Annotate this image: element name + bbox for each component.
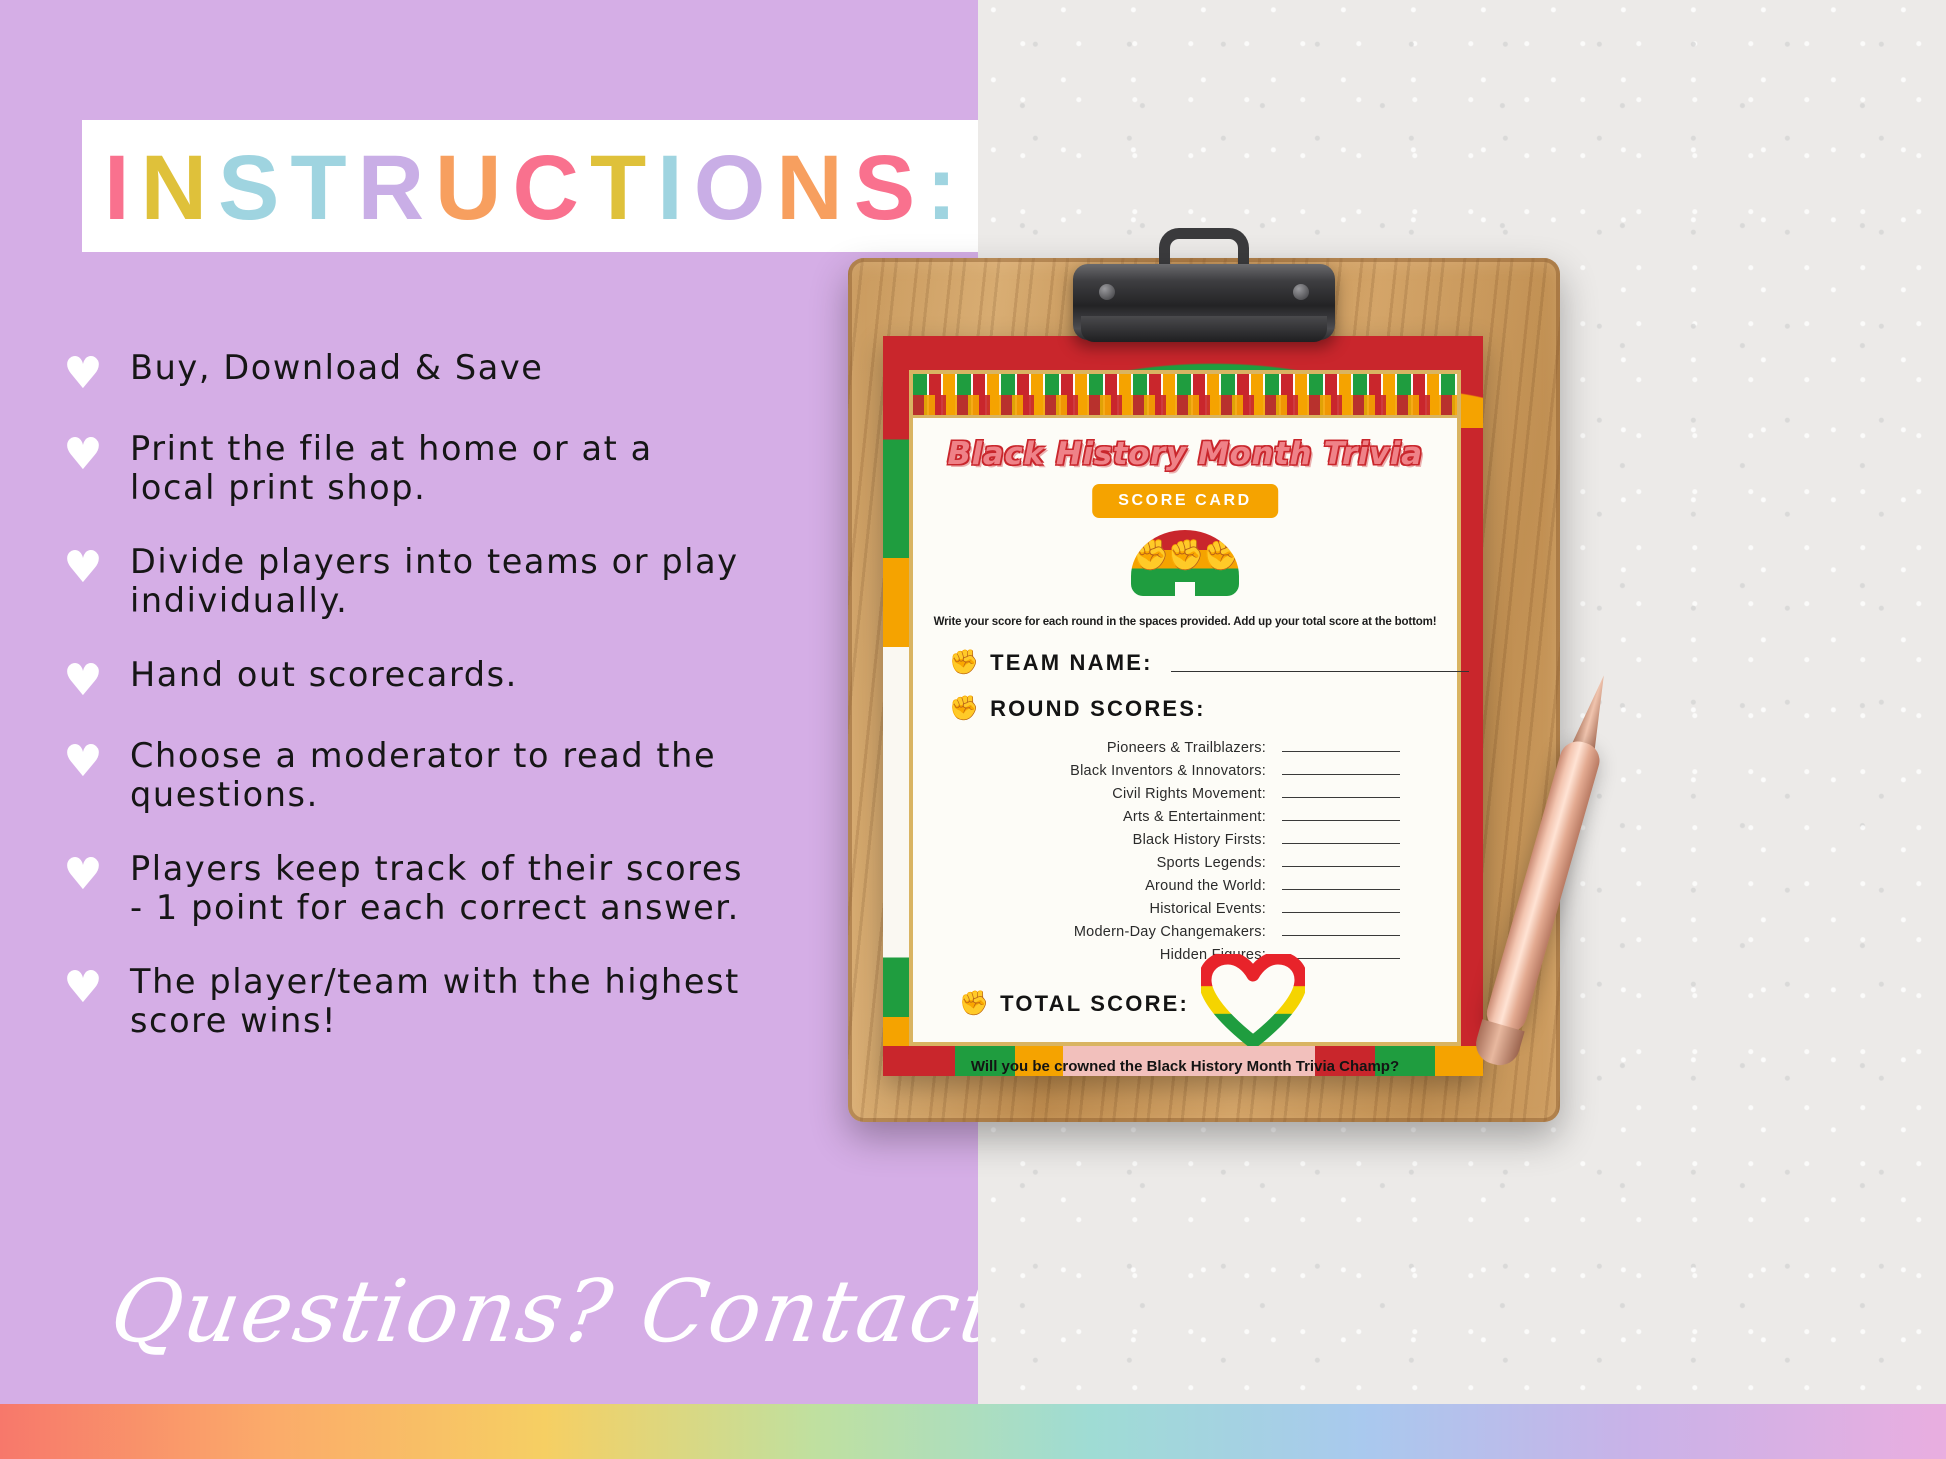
clip-rivet	[1293, 284, 1309, 300]
page-title: INSTRUCTIONS:	[104, 134, 968, 242]
instruction-item: ♥The player/team with the highest score …	[60, 960, 960, 1040]
instructions-panel: INSTRUCTIONS: ♥Buy, Download & Save♥Prin…	[0, 0, 978, 1404]
wooden-clipboard-icon: Black History Month Trivia SCORE CARD ✊✊…	[848, 258, 1560, 1122]
total-score-row: ✊ TOTAL SCORE:	[959, 962, 1305, 1046]
round-score-row: Black History Firsts:	[970, 832, 1400, 848]
round-score-input[interactable]	[1282, 751, 1400, 752]
round-score-row: Pioneers & Trailblazers:	[970, 740, 1400, 756]
round-score-input[interactable]	[1282, 820, 1400, 821]
round-label: Modern-Day Changemakers:	[970, 924, 1266, 940]
title-letter-12: :	[926, 137, 968, 239]
total-score-label: TOTAL SCORE:	[1000, 991, 1189, 1017]
instruction-item-text: Divide players into teams or play indivi…	[130, 540, 960, 620]
heart-bullet-icon: ♥	[60, 435, 106, 475]
scorecard-instruction: Write your score for each round in the s…	[929, 616, 1441, 628]
round-score-row: Black Inventors & Innovators:	[970, 763, 1400, 779]
round-score-row: Modern-Day Changemakers:	[970, 924, 1400, 940]
heart-notch	[1175, 582, 1195, 596]
pan-african-heart-icon	[1201, 954, 1305, 1046]
round-score-input[interactable]	[1282, 774, 1400, 775]
product-photo: Black History Month Trivia SCORE CARD ✊✊…	[978, 0, 1946, 1404]
title-letter-3: T	[290, 137, 357, 239]
round-score-row: Civil Rights Movement:	[970, 786, 1400, 802]
clip-rivet	[1099, 284, 1115, 300]
scorecard-footer-question: Will you be crowned the Black History Mo…	[925, 1058, 1445, 1075]
heart-bullet-icon: ♥	[60, 548, 106, 588]
instruction-item: ♥Print the file at home or at a local pr…	[60, 427, 960, 507]
round-score-row: Sports Legends:	[970, 855, 1400, 871]
title-letter-2: S	[218, 137, 290, 239]
fists-glyphs: ✊✊✊	[1132, 539, 1238, 573]
scorecard-page: Black History Month Trivia SCORE CARD ✊✊…	[883, 336, 1483, 1076]
raised-fists-emblem-icon: ✊✊✊	[1131, 530, 1239, 596]
round-score-list: Pioneers & Trailblazers:Black Inventors …	[913, 740, 1457, 970]
title-letter-10: N	[776, 137, 853, 239]
round-label: Civil Rights Movement:	[970, 786, 1266, 802]
title-letter-1: N	[141, 137, 218, 239]
round-score-input[interactable]	[1282, 912, 1400, 913]
round-score-input[interactable]	[1282, 843, 1400, 844]
round-label: Pioneers & Trailblazers:	[970, 740, 1266, 756]
round-score-input[interactable]	[1282, 889, 1400, 890]
fist-icon: ✊	[949, 651, 981, 675]
round-score-row: Around the World:	[970, 878, 1400, 894]
round-label: Historical Events:	[970, 901, 1266, 917]
rainbow-footer-bar	[0, 1404, 1946, 1459]
round-scores-label: ROUND SCORES:	[990, 696, 1206, 722]
round-score-row: Hidden Figures:	[970, 947, 1400, 963]
instruction-item: ♥Choose a moderator to read the question…	[60, 734, 960, 814]
scorecard-inner-page: Black History Month Trivia SCORE CARD ✊✊…	[909, 370, 1461, 1046]
heart-bullet-icon: ♥	[60, 855, 106, 895]
score-card-badge: SCORE CARD	[1092, 484, 1278, 518]
title-letter-5: U	[435, 137, 512, 239]
team-name-row: ✊ TEAM NAME:	[949, 650, 1469, 676]
title-letter-4: R	[358, 137, 435, 239]
round-score-row: Historical Events:	[970, 901, 1400, 917]
round-score-input[interactable]	[1282, 866, 1400, 867]
round-label: Sports Legends:	[970, 855, 1266, 871]
instruction-item-text: Buy, Download & Save	[130, 346, 960, 387]
title-letter-8: I	[657, 137, 694, 239]
round-label: Black Inventors & Innovators:	[970, 763, 1266, 779]
round-label: Arts & Entertainment:	[970, 809, 1266, 825]
heart-bullet-icon: ♥	[60, 742, 106, 782]
instruction-item-text: Hand out scorecards.	[130, 653, 960, 694]
instruction-item-text: Print the file at home or at a local pri…	[130, 427, 960, 507]
instruction-item-text: Players keep track of their scores - 1 p…	[130, 847, 960, 927]
round-scores-heading: ✊ ROUND SCORES:	[949, 696, 1206, 722]
round-score-input[interactable]	[1282, 797, 1400, 798]
title-letter-0: I	[104, 137, 141, 239]
kente-pattern-border	[913, 374, 1457, 418]
team-name-label: TEAM NAME:	[990, 650, 1153, 676]
scorecard-title: Black History Month Trivia	[913, 436, 1457, 472]
round-label: Around the World:	[970, 878, 1266, 894]
title-letter-9: O	[694, 137, 777, 239]
title-letter-6: C	[513, 137, 590, 239]
instruction-item-text: The player/team with the highest score w…	[130, 960, 960, 1040]
instruction-item-text: Choose a moderator to read the questions…	[130, 734, 960, 814]
round-score-input[interactable]	[1282, 935, 1400, 936]
team-name-input[interactable]	[1171, 671, 1469, 672]
round-score-row: Arts & Entertainment:	[970, 809, 1400, 825]
fist-icon: ✊	[959, 992, 991, 1016]
pen-tip	[1571, 672, 1615, 752]
round-label: Black History Firsts:	[970, 832, 1266, 848]
instruction-item: ♥Buy, Download & Save	[60, 346, 960, 394]
instructions-list: ♥Buy, Download & Save♥Print the file at …	[60, 346, 960, 1073]
instruction-item: ♥Hand out scorecards.	[60, 653, 960, 701]
fist-icon: ✊	[949, 697, 981, 721]
instruction-item: ♥Players keep track of their scores - 1 …	[60, 847, 960, 927]
title-letter-11: S	[854, 137, 926, 239]
heart-bullet-icon: ♥	[60, 968, 106, 1008]
clip-jaw	[1081, 316, 1327, 342]
heart-bullet-icon: ♥	[60, 661, 106, 701]
title-letter-7: T	[590, 137, 657, 239]
heart-bullet-icon: ♥	[60, 354, 106, 394]
scorecard-left-stripes	[883, 336, 909, 1076]
metal-clip-icon	[1073, 228, 1335, 358]
instruction-item: ♥Divide players into teams or play indiv…	[60, 540, 960, 620]
